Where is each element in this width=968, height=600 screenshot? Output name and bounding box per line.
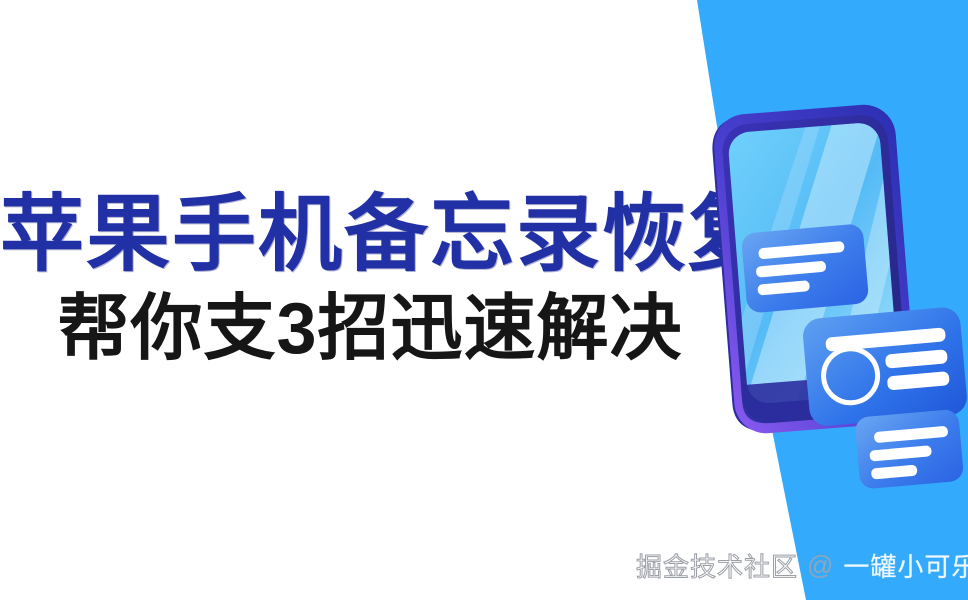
note-card-bottom-right bbox=[854, 409, 964, 490]
smartphone-notes-illustration bbox=[700, 78, 968, 488]
headline-secondary: 帮你支3招迅速解决 bbox=[0, 286, 740, 372]
headline-primary: 苹果手机备忘录恢复 bbox=[0, 186, 740, 282]
poster-canvas: 苹果手机备忘录恢复 帮你支3招迅速解决 bbox=[0, 0, 968, 600]
note-card-center bbox=[802, 306, 968, 427]
headline-block: 苹果手机备忘录恢复 帮你支3招迅速解决 bbox=[0, 186, 740, 372]
note-card-top-left bbox=[741, 223, 870, 313]
